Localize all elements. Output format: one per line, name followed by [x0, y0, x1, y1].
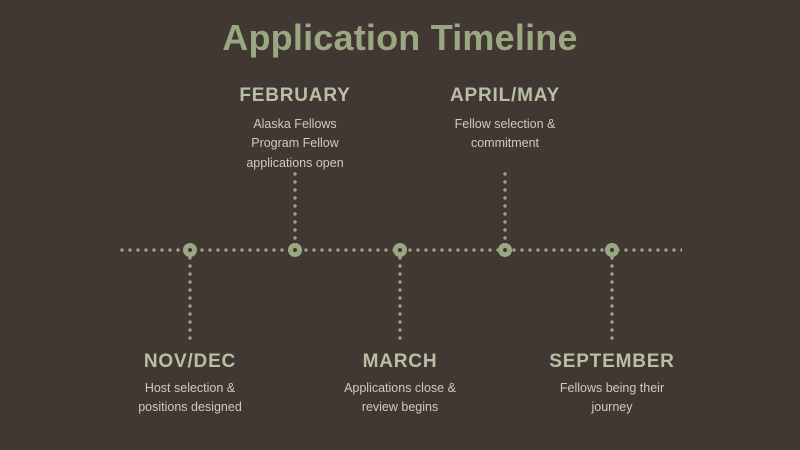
- event-month-label: SEPTEMBER: [507, 351, 717, 374]
- event-description: Applications close & review begins: [295, 379, 505, 418]
- event-description: Alaska Fellows Program Fellow applicatio…: [190, 115, 400, 173]
- event-month-label: FEBRUARY: [190, 85, 400, 108]
- timeline-node-nov-dec[interactable]: [183, 243, 197, 257]
- connector-stem-september: [610, 254, 614, 344]
- timeline-event-nov-dec: NOV/DEC Host selection & positions desig…: [85, 351, 295, 418]
- event-description: Fellows being their journey: [507, 379, 717, 418]
- timeline-node-february[interactable]: [288, 243, 302, 257]
- page-title: Application Timeline: [0, 18, 800, 58]
- connector-stem-april-may: [503, 170, 507, 248]
- timeline-slide: Application Timeline FEBRUARY Alaska Fel…: [0, 0, 800, 450]
- timeline-event-april-may: APRIL/MAY Fellow selection & commitment: [400, 85, 610, 154]
- timeline-event-february: FEBRUARY Alaska Fellows Program Fellow a…: [190, 85, 400, 173]
- event-month-label: NOV/DEC: [85, 351, 295, 374]
- connector-stem-nov-dec: [188, 254, 192, 344]
- timeline-node-september[interactable]: [605, 243, 619, 257]
- connector-stem-february: [293, 170, 297, 248]
- timeline-event-march: MARCH Applications close & review begins: [295, 351, 505, 418]
- timeline-node-april-may[interactable]: [498, 243, 512, 257]
- timeline-event-september: SEPTEMBER Fellows being their journey: [507, 351, 717, 418]
- event-description: Fellow selection & commitment: [400, 115, 610, 154]
- connector-stem-march: [398, 254, 402, 344]
- event-month-label: APRIL/MAY: [400, 85, 610, 108]
- timeline-node-march[interactable]: [393, 243, 407, 257]
- event-description: Host selection & positions designed: [85, 379, 295, 418]
- event-month-label: MARCH: [295, 351, 505, 374]
